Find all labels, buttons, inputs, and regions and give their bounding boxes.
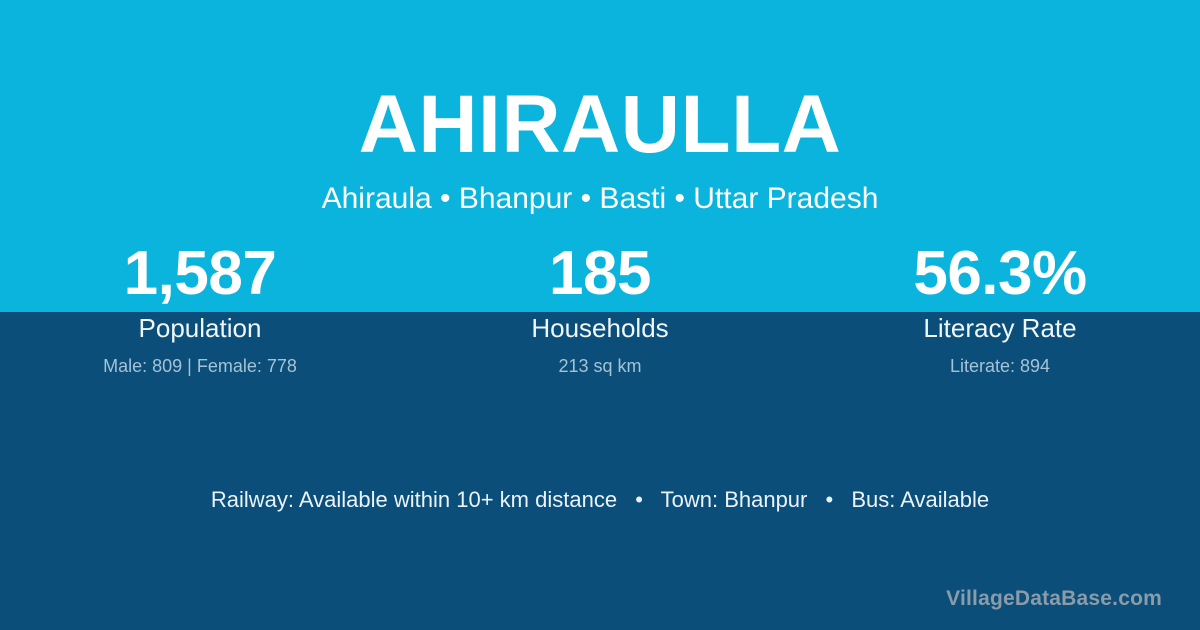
stat-population: 1,587 Population Male: 809 | Female: 778 xyxy=(0,240,400,378)
stat-label-population: Population xyxy=(0,308,400,344)
stat-sub-population: Male: 809 | Female: 778 xyxy=(0,344,400,378)
page-title: AHIRAULLA xyxy=(0,0,1200,166)
infra-railway: Railway: Available within 10+ km distanc… xyxy=(211,487,617,512)
site-brand: VillageDataBase.com xyxy=(946,586,1162,612)
stat-literacy-rate: 56.3% Literacy Rate Literate: 894 xyxy=(800,240,1200,378)
infrastructure-summary: Railway: Available within 10+ km distanc… xyxy=(0,486,1200,514)
infra-separator-2: • xyxy=(814,487,846,512)
village-info-card: AHIRAULLA Ahiraula • Bhanpur • Basti • U… xyxy=(0,0,1200,630)
stat-sub-literacy-rate: Literate: 894 xyxy=(800,344,1200,378)
infra-bus: Bus: Available xyxy=(851,487,989,512)
stat-value-households: 185 xyxy=(400,240,800,308)
stat-label-households: Households xyxy=(400,308,800,344)
header: AHIRAULLA Ahiraula • Bhanpur • Basti • U… xyxy=(0,0,1200,214)
stat-label-literacy-rate: Literacy Rate xyxy=(800,308,1200,344)
stat-value-literacy-rate: 56.3% xyxy=(800,240,1200,308)
stat-households: 185 Households 213 sq km xyxy=(400,240,800,378)
stat-sub-households: 213 sq km xyxy=(400,344,800,378)
stats-row: 1,587 Population Male: 809 | Female: 778… xyxy=(0,240,1200,378)
stat-value-population: 1,587 xyxy=(0,240,400,308)
breadcrumb: Ahiraula • Bhanpur • Basti • Uttar Prade… xyxy=(0,166,1200,214)
infra-separator-1: • xyxy=(623,487,655,512)
infra-town: Town: Bhanpur xyxy=(661,487,808,512)
